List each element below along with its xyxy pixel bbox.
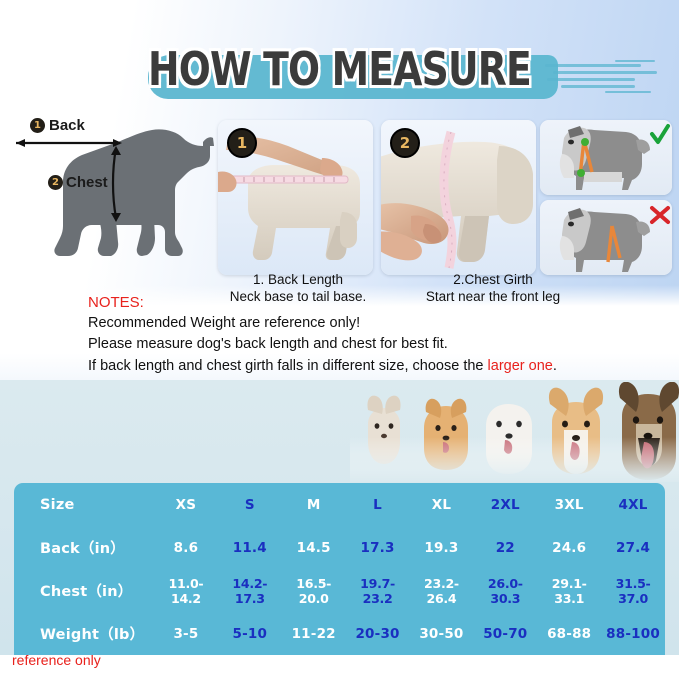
incorrect-position-photo xyxy=(540,200,672,275)
dog-silhouette-icon xyxy=(0,112,215,282)
notes-heading: NOTES: xyxy=(88,294,668,311)
cell-size-s: S xyxy=(218,497,282,513)
background-bottom-white xyxy=(0,655,679,679)
cell-weight-l: 20-30 xyxy=(346,626,410,642)
panel-badge-one: 1 xyxy=(227,128,257,158)
cell-chest-xs: 11.0-14.2 xyxy=(154,576,218,606)
dog-size-photo-strip xyxy=(350,382,679,482)
reference-only-footnote: reference only xyxy=(12,652,101,668)
badge-one-back: 1 xyxy=(30,118,45,133)
row-label-size: Size xyxy=(14,497,154,513)
cell-back-xl: 19.3 xyxy=(410,540,474,556)
back-label-text: Back xyxy=(49,117,85,134)
cell-size-2xl: 2XL xyxy=(473,497,537,513)
notes-line-3: If back length and chest girth falls in … xyxy=(88,356,668,377)
table-row-back: Back（in） 8.6 11.4 14.5 17.3 19.3 22 24.6… xyxy=(14,526,665,569)
cell-back-m: 14.5 xyxy=(282,540,346,556)
cell-chest-xl: 23.2-26.4 xyxy=(410,576,474,606)
cell-back-2xl: 22 xyxy=(473,540,537,556)
badge-two-chest: 2 xyxy=(48,175,63,190)
cell-chest-4xl: 31.5-37.0 xyxy=(601,576,665,606)
row-label-weight: Weight（lb） xyxy=(14,623,154,644)
notes-block: NOTES: Recommended Weight are reference … xyxy=(88,294,668,377)
cell-size-l: L xyxy=(346,497,410,513)
table-row-chest: Chest（in） 11.0-14.2 14.2-17.3 16.5-20.0 … xyxy=(14,569,665,612)
chest-measure-label: 2 Chest xyxy=(48,174,108,191)
chest-girth-photo: 2 xyxy=(381,120,536,275)
cell-back-3xl: 24.6 xyxy=(537,540,601,556)
caption-chest-title: 2.Chest Girth xyxy=(398,272,588,289)
cell-weight-2xl: 50-70 xyxy=(473,626,537,642)
notes-line-3-highlight: larger one xyxy=(488,358,553,374)
notes-line-1: Recommended Weight are reference only! xyxy=(88,313,668,334)
correct-position-photo xyxy=(540,120,672,195)
cell-back-l: 17.3 xyxy=(346,540,410,556)
notes-line-2: Please measure dog's back length and che… xyxy=(88,334,668,355)
panel-badge-two: 2 xyxy=(390,128,420,158)
table-row-weight: Weight（lb） 3-5 5-10 11-22 20-30 30-50 50… xyxy=(14,612,665,655)
cell-weight-s: 5-10 xyxy=(218,626,282,642)
table-row-size: Size XS S M L XL 2XL 3XL 4XL xyxy=(14,483,665,526)
measurement-diagram: 1 Back 2 Chest xyxy=(0,112,215,282)
page-title: HOW TO MEASURE xyxy=(61,42,618,96)
caption-back-title: 1. Back Length xyxy=(218,272,378,289)
size-chart-infographic: HOW TO MEASURE 1 Back 2 Chest xyxy=(0,0,679,679)
cell-chest-3xl: 29.1-33.1 xyxy=(537,576,601,606)
cell-back-s: 11.4 xyxy=(218,540,282,556)
back-measure-label: 1 Back xyxy=(30,117,85,134)
cell-weight-3xl: 68-88 xyxy=(537,626,601,642)
cell-size-4xl: 4XL xyxy=(601,497,665,513)
cell-back-xs: 8.6 xyxy=(154,540,218,556)
cell-size-xs: XS xyxy=(154,497,218,513)
cell-weight-xl: 30-50 xyxy=(410,626,474,642)
cell-chest-m: 16.5-20.0 xyxy=(282,576,346,606)
cell-weight-4xl: 88-100 xyxy=(601,626,665,642)
cell-size-m: M xyxy=(282,497,346,513)
row-label-chest: Chest（in） xyxy=(14,580,154,601)
size-chart-table: Size XS S M L XL 2XL 3XL 4XL Back（in） 8.… xyxy=(14,483,665,655)
row-label-back: Back（in） xyxy=(14,537,154,558)
cell-chest-2xl: 26.0-30.3 xyxy=(473,576,537,606)
notes-line-3-a: If back length and chest girth falls in … xyxy=(88,358,488,374)
cell-chest-l: 19.7-23.2 xyxy=(346,576,410,606)
cell-chest-s: 14.2-17.3 xyxy=(218,576,282,606)
chest-label-text: Chest xyxy=(66,174,108,191)
cell-size-xl: XL xyxy=(410,497,474,513)
notes-line-3-b: . xyxy=(553,358,557,374)
back-length-photo: 1 xyxy=(218,120,373,275)
cell-weight-xs: 3-5 xyxy=(154,626,218,642)
cell-weight-m: 11-22 xyxy=(282,626,346,642)
cell-size-3xl: 3XL xyxy=(537,497,601,513)
cell-back-4xl: 27.4 xyxy=(601,540,665,556)
